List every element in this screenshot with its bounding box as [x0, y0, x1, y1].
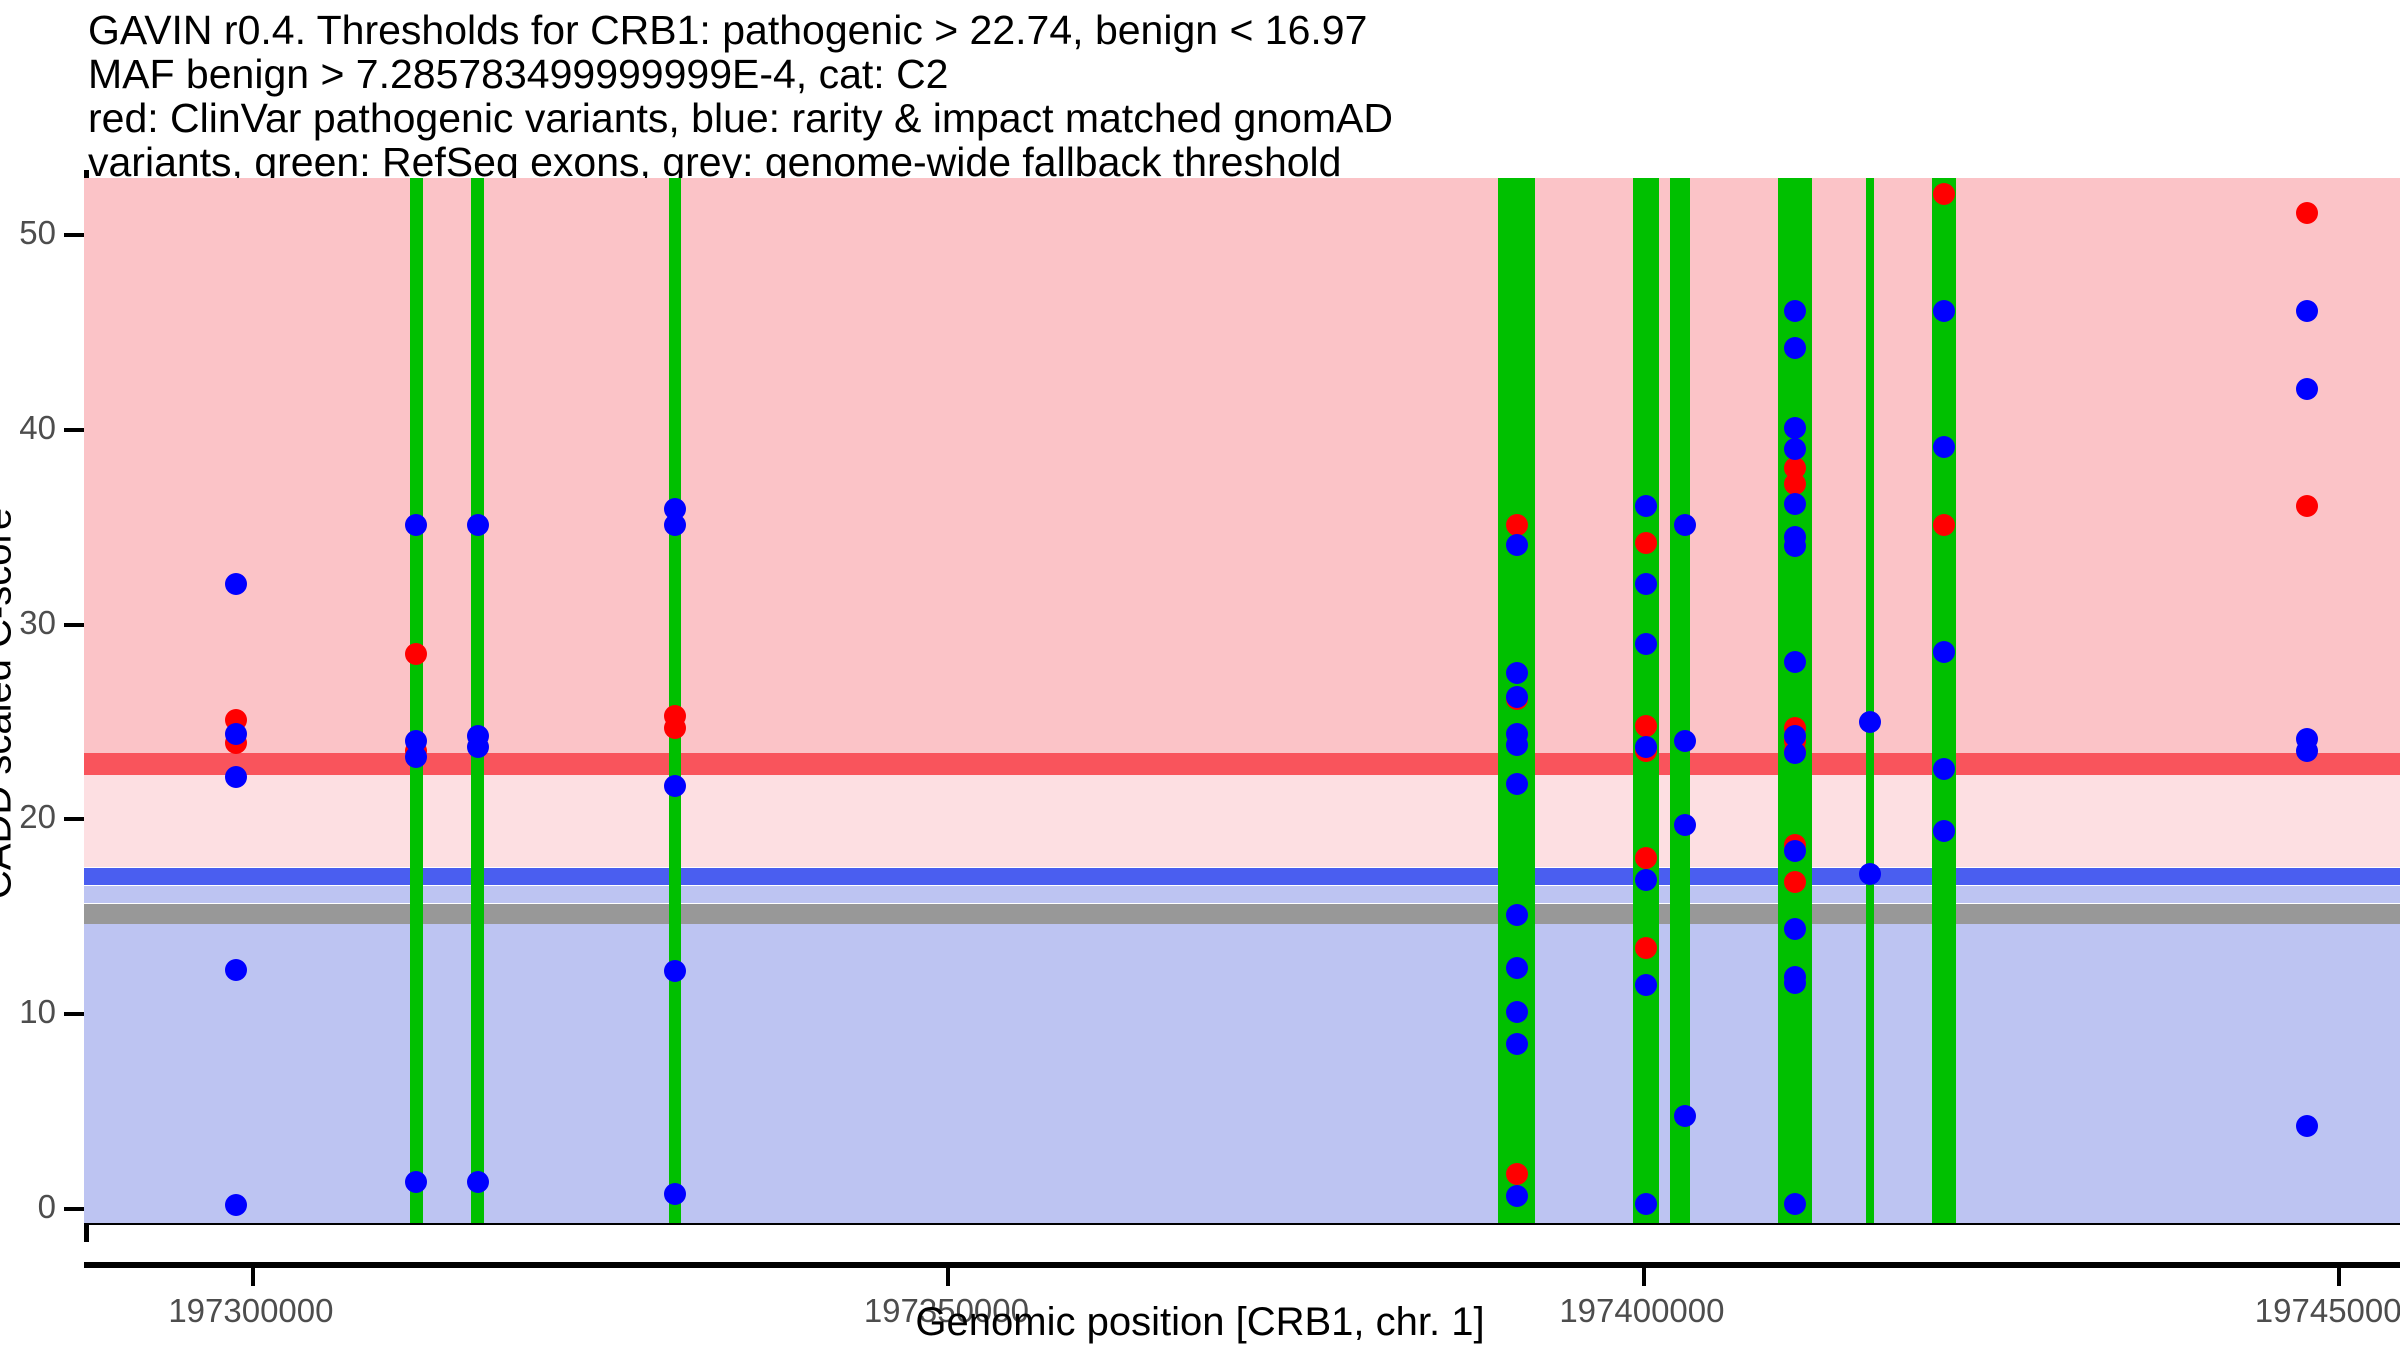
benign-point [1674, 1105, 1696, 1127]
benign-point [1933, 820, 1955, 842]
benign-point [1784, 337, 1806, 359]
benign-point [1784, 417, 1806, 439]
pathogenic-point [1506, 514, 1528, 536]
benign-point [2296, 1115, 2318, 1137]
exon-marker-6 [1670, 178, 1680, 1223]
benign-point [1506, 773, 1528, 795]
pathogenic-point [2296, 202, 2318, 224]
benign-point [225, 766, 247, 788]
pathogenic-point [1506, 1163, 1528, 1185]
benign-point [1506, 662, 1528, 684]
benign-point [225, 723, 247, 745]
x-axis-line [84, 1262, 2400, 1268]
pathogenic-point [1635, 715, 1657, 737]
benign-point [225, 959, 247, 981]
benign-point [1784, 840, 1806, 862]
x-tick-mark [946, 1268, 950, 1286]
benign-point [1506, 904, 1528, 926]
benign-point [664, 1183, 686, 1205]
x-tick-mark [1642, 1268, 1646, 1286]
pathogenic-point [1635, 532, 1657, 554]
y-axis-label: CADD scaled C-score [0, 393, 21, 1013]
y-tick-mark [64, 233, 84, 237]
benign-point [1635, 573, 1657, 595]
benign-point [2296, 740, 2318, 762]
exon-marker-7 [1680, 178, 1690, 1223]
benign-point [2296, 300, 2318, 322]
pathogenic-point [1635, 937, 1657, 959]
benign-point [1506, 534, 1528, 556]
zone-ambiguous-zone [84, 775, 2400, 868]
zone-benign-zone-upper [84, 886, 2400, 904]
benign-point [1506, 734, 1528, 756]
x-tick-mark [2337, 1268, 2341, 1286]
benign-point [1784, 742, 1806, 764]
exon-marker-9 [1866, 178, 1874, 1223]
y-tick-mark [64, 817, 84, 821]
y-tick-label: 50 [0, 214, 56, 252]
threshold-line-genome-wide-fallback [84, 904, 2400, 923]
figure-title: GAVIN r0.4. Thresholds for CRB1: pathoge… [88, 8, 2368, 184]
benign-point [1635, 495, 1657, 517]
exon-marker-8 [1778, 178, 1811, 1223]
x-tick-mark [251, 1268, 255, 1286]
pathogenic-point [664, 717, 686, 739]
benign-point [1506, 1033, 1528, 1055]
zone-benign-zone [84, 924, 2400, 1223]
benign-point [1784, 1193, 1806, 1215]
benign-point [1933, 300, 1955, 322]
y-tick-mark [64, 1207, 84, 1211]
pathogenic-point [1784, 871, 1806, 893]
threshold-line-pathogenic-threshold [84, 753, 2400, 774]
benign-point [1933, 436, 1955, 458]
benign-point [1506, 957, 1528, 979]
benign-point [1635, 633, 1657, 655]
benign-point [1784, 972, 1806, 994]
benign-point [1784, 438, 1806, 460]
title-line-2: MAF benign > 7.285783499999999E-4, cat: … [88, 52, 2368, 96]
title-line-1: GAVIN r0.4. Thresholds for CRB1: pathoge… [88, 8, 2368, 52]
benign-point [1859, 711, 1881, 733]
threshold-line-benign-threshold [84, 868, 2400, 886]
benign-point [1506, 1001, 1528, 1023]
exon-marker-10 [1932, 178, 1956, 1223]
benign-point [225, 573, 247, 595]
y-tick-mark [64, 1012, 84, 1016]
plot-figure: GAVIN r0.4. Thresholds for CRB1: pathoge… [0, 0, 2400, 1350]
benign-point [1784, 493, 1806, 515]
benign-point [1674, 514, 1696, 536]
benign-point [1859, 863, 1881, 885]
pathogenic-point [2296, 495, 2318, 517]
plot-panel [84, 178, 2400, 1223]
benign-point [467, 736, 489, 758]
exon-marker-2 [471, 178, 484, 1223]
pathogenic-point [1933, 183, 1955, 205]
benign-point [1933, 641, 1955, 663]
benign-point [1635, 1193, 1657, 1215]
benign-point [1784, 918, 1806, 940]
benign-point [1784, 300, 1806, 322]
exon-marker-1 [410, 178, 423, 1223]
benign-point [2296, 378, 2318, 400]
y-tick-mark [64, 623, 84, 627]
benign-point [1784, 651, 1806, 673]
pathogenic-point [405, 643, 427, 665]
y-tick-mark [64, 428, 84, 432]
benign-point [1635, 869, 1657, 891]
exon-marker-3 [669, 178, 682, 1223]
benign-point [467, 514, 489, 536]
zone-pathogenic-zone [84, 178, 2400, 753]
title-line-3: red: ClinVar pathogenic variants, blue: … [88, 96, 2368, 140]
benign-point [1933, 758, 1955, 780]
pathogenic-point [1933, 514, 1955, 536]
exon-marker-5 [1633, 178, 1659, 1223]
benign-point [1506, 1185, 1528, 1207]
benign-point [225, 1194, 247, 1216]
x-axis-label: Genomic position [CRB1, chr. 1] [0, 1300, 2400, 1345]
benign-point [1506, 686, 1528, 708]
pathogenic-point [1784, 473, 1806, 495]
y-tick-label: 0 [0, 1188, 56, 1226]
benign-point [467, 1171, 489, 1193]
